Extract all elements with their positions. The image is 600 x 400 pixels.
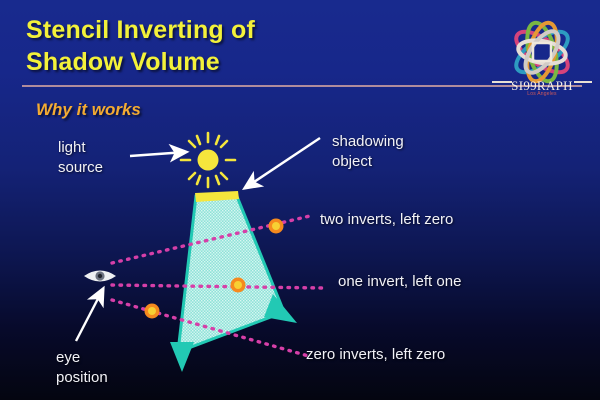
eye-icon — [84, 271, 116, 282]
shadowing-object-arrow-icon — [245, 138, 320, 188]
light-source-label: light source — [58, 138, 103, 177]
one-invert-label: one invert, left one — [338, 272, 461, 292]
shadow-volume-diagram — [0, 0, 600, 400]
sun-icon — [181, 133, 235, 187]
shadowing-object-label: shadowing object — [332, 132, 404, 171]
eye-position-arrow-icon — [76, 289, 103, 341]
two-inverts-label: two inverts, left zero — [320, 210, 453, 230]
zero-inverts-label: zero inverts, left zero — [306, 345, 445, 365]
volume-arrow-bottom-icon — [170, 342, 194, 372]
eye-position-label: eye position — [56, 348, 108, 387]
light-source-arrow-icon — [130, 152, 186, 156]
ray-one-invert — [112, 285, 322, 288]
slide-canvas: Stencil Inverting of Shadow Volume Why i… — [0, 0, 600, 400]
shadow-volume-polygon — [178, 194, 284, 352]
